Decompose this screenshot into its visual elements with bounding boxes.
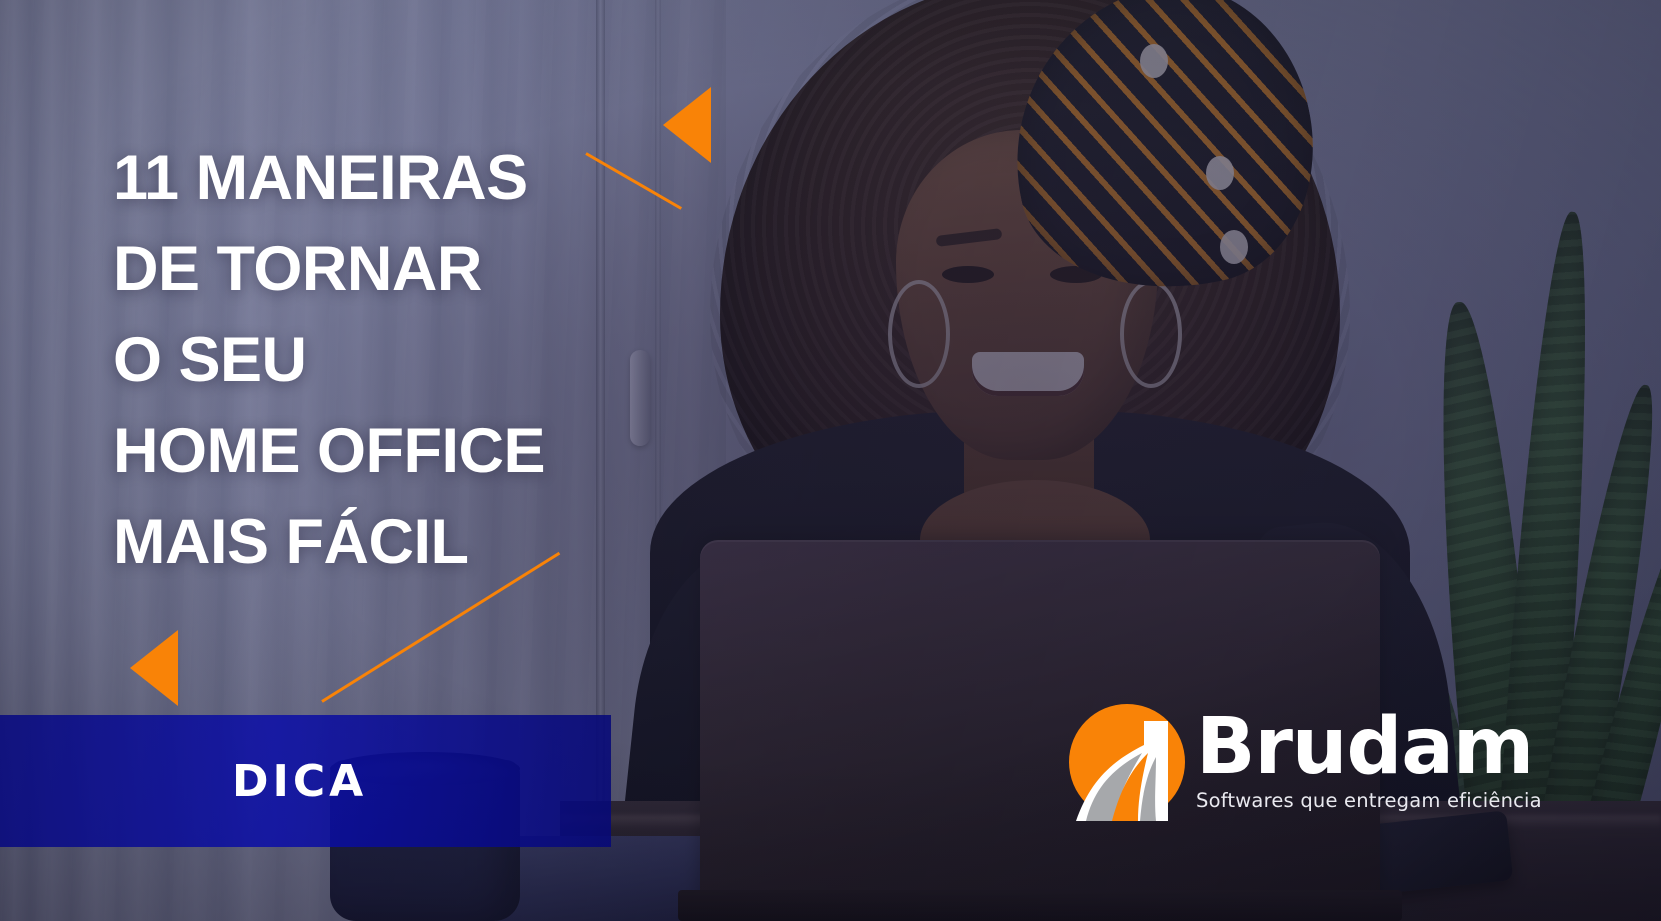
headline: 11 MANEIRAS DE TORNAR O SEU HOME OFFICE … bbox=[113, 133, 753, 588]
dica-badge-label: DICA bbox=[232, 756, 367, 807]
headline-line-2: DE TORNAR bbox=[113, 224, 753, 315]
triangle-bottom-icon bbox=[130, 630, 178, 706]
headline-line-5: MAIS FÁCIL bbox=[113, 497, 753, 588]
dica-badge: DICA bbox=[0, 715, 611, 847]
headline-line-4: HOME OFFICE bbox=[113, 406, 753, 497]
brudam-road-swoosh-icon bbox=[1068, 703, 1186, 821]
brudam-tagline: Softwares que entregam eficiência bbox=[1196, 789, 1542, 812]
brudam-logo: Brudam Softwares que entregam eficiência bbox=[1068, 703, 1542, 821]
brudam-wordmark: Brudam Softwares que entregam eficiência bbox=[1196, 712, 1542, 812]
headline-line-3: O SEU bbox=[113, 315, 753, 406]
headline-line-1: 11 MANEIRAS bbox=[113, 133, 753, 224]
brudam-name: Brudam bbox=[1196, 712, 1542, 784]
marketing-banner: 11 MANEIRAS DE TORNAR O SEU HOME OFFICE … bbox=[0, 0, 1661, 921]
